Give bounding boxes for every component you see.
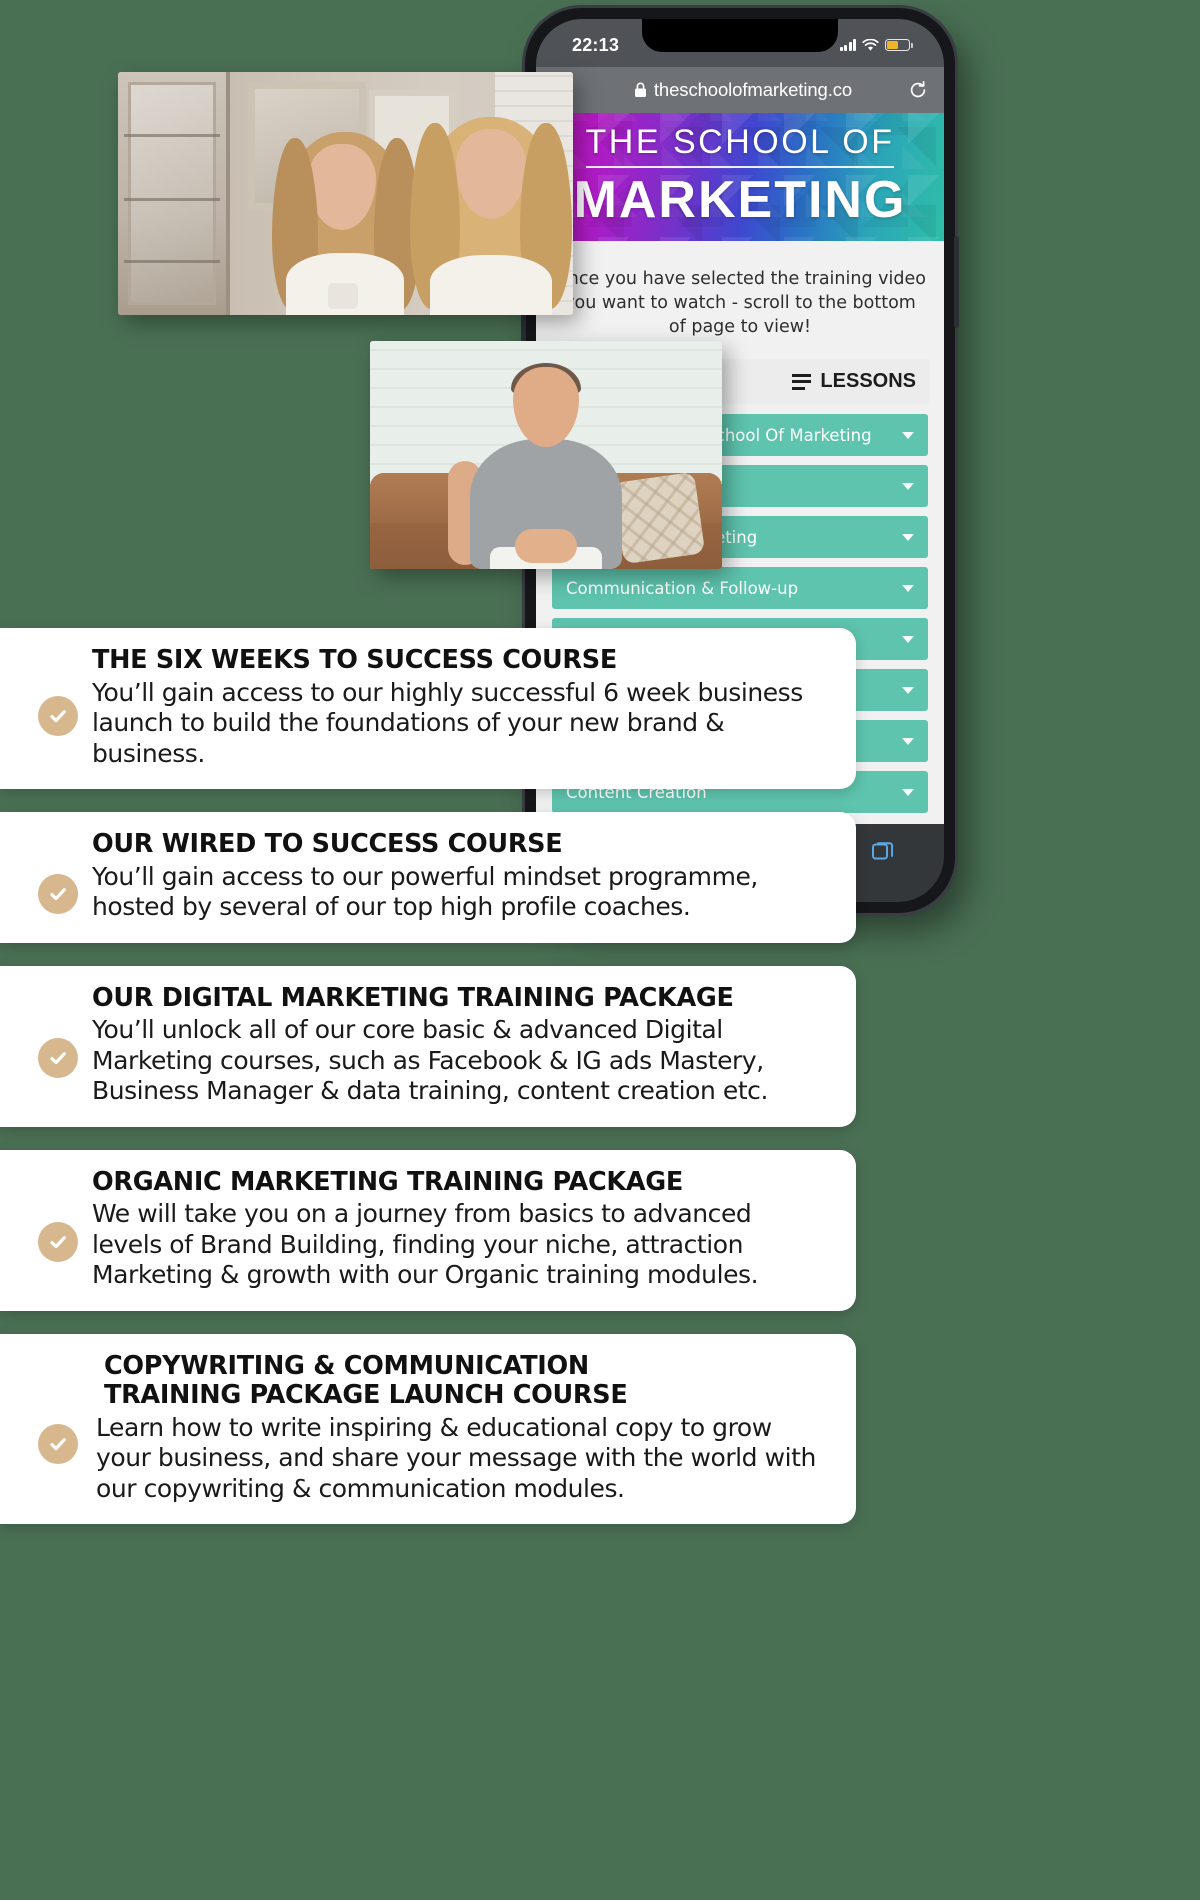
signal-bars-icon bbox=[840, 39, 857, 51]
status-indicators bbox=[840, 39, 911, 52]
banner-title-line2: MARKETING bbox=[574, 172, 907, 228]
status-time: 22:13 bbox=[572, 35, 619, 56]
url-display[interactable]: theschoolofmarketing.co bbox=[592, 79, 894, 101]
check-circle-icon bbox=[38, 1424, 78, 1464]
hamburger-icon bbox=[792, 374, 811, 390]
feature-card: ORGANIC MARKETING TRAINING PACKAGE We wi… bbox=[0, 1150, 856, 1311]
feature-card-list: THE SIX WEEKS TO SUCCESS COURSE You’ll g… bbox=[0, 628, 856, 1524]
chevron-down-icon bbox=[902, 483, 914, 490]
lesson-item[interactable]: Communication & Follow-up bbox=[552, 567, 928, 609]
banner-title-line1: THE SCHOOL OF bbox=[586, 125, 895, 168]
chevron-down-icon bbox=[902, 534, 914, 541]
feature-card-body: We will take you on a journey from basic… bbox=[92, 1199, 822, 1291]
feature-card: OUR DIGITAL MARKETING TRAINING PACKAGE Y… bbox=[0, 966, 856, 1127]
man-on-couch-training-video[interactable] bbox=[370, 341, 722, 569]
site-intro-text: Once you have selected the training vide… bbox=[536, 241, 944, 351]
phone-notch bbox=[642, 19, 838, 52]
url-text: theschoolofmarketing.co bbox=[654, 79, 852, 101]
browser-url-bar[interactable]: AA theschoolofmarketing.co bbox=[536, 67, 944, 113]
two-women-training-video[interactable] bbox=[118, 72, 573, 315]
feature-card-body: Learn how to write inspiring & education… bbox=[96, 1413, 822, 1505]
check-circle-icon bbox=[38, 1038, 78, 1078]
chevron-down-icon bbox=[902, 738, 914, 745]
reload-button[interactable] bbox=[894, 80, 928, 100]
chevron-down-icon bbox=[902, 789, 914, 796]
chevron-down-icon bbox=[902, 432, 914, 439]
video-cabinet bbox=[118, 72, 230, 315]
feature-card-title: OUR DIGITAL MARKETING TRAINING PACKAGE bbox=[92, 984, 822, 1014]
video-person-right bbox=[410, 117, 572, 315]
feature-card: OUR WIRED TO SUCCESS COURSE You’ll gain … bbox=[0, 812, 856, 943]
chevron-down-icon bbox=[902, 585, 914, 592]
check-circle-icon bbox=[38, 1222, 78, 1262]
lesson-item-label: Communication & Follow-up bbox=[566, 579, 798, 598]
wifi-icon bbox=[862, 39, 879, 52]
feature-card-body: You’ll unlock all of our core basic & ad… bbox=[92, 1015, 822, 1107]
video-person-man bbox=[370, 341, 722, 569]
lessons-heading-label: LESSONS bbox=[820, 370, 916, 393]
feature-card-title: ORGANIC MARKETING TRAINING PACKAGE bbox=[92, 1168, 822, 1198]
feature-card-title: COPYWRITING & COMMUNICATION TRAINING PAC… bbox=[96, 1352, 822, 1411]
feature-card: THE SIX WEEKS TO SUCCESS COURSE You’ll g… bbox=[0, 628, 856, 789]
chevron-down-icon bbox=[902, 636, 914, 643]
video-person-left bbox=[270, 130, 420, 315]
phone-power-button[interactable] bbox=[954, 236, 959, 328]
tabs-icon[interactable] bbox=[870, 838, 896, 864]
check-circle-icon bbox=[38, 696, 78, 736]
feature-card-title: THE SIX WEEKS TO SUCCESS COURSE bbox=[92, 646, 822, 676]
feature-card-body: You’ll gain access to our highly success… bbox=[92, 678, 822, 770]
chevron-down-icon bbox=[902, 687, 914, 694]
site-banner: THE SCHOOL OF MARKETING bbox=[536, 113, 944, 241]
feature-card-title: OUR WIRED TO SUCCESS COURSE bbox=[92, 830, 822, 860]
feature-card: COPYWRITING & COMMUNICATION TRAINING PAC… bbox=[0, 1334, 856, 1525]
banner-text: THE SCHOOL OF MARKETING bbox=[536, 113, 944, 241]
feature-card-body: You’ll gain access to our powerful minds… bbox=[92, 862, 822, 923]
battery-icon bbox=[885, 39, 910, 51]
lock-icon bbox=[634, 82, 647, 98]
check-circle-icon bbox=[38, 874, 78, 914]
